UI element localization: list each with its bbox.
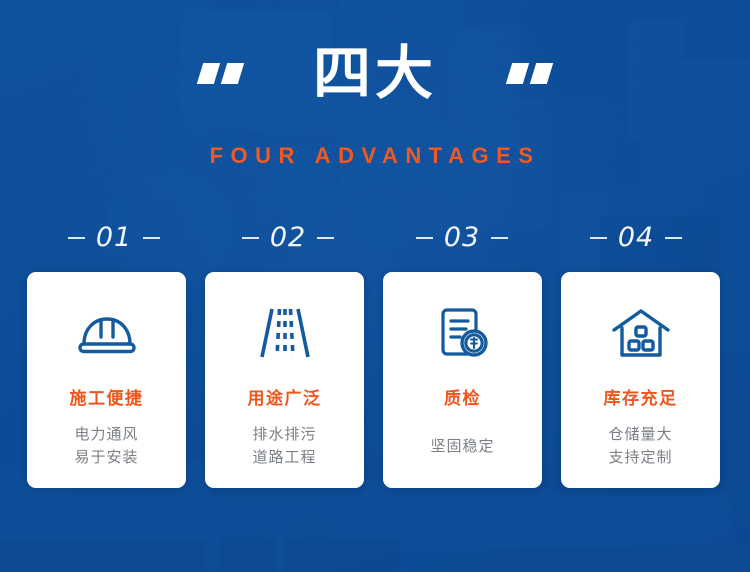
card-description: 仓储量大 支持定制 xyxy=(608,423,672,470)
advantage-card-2[interactable]: 用途广泛 排水排污 道路工程 xyxy=(205,272,364,488)
number-badge-03: 03 xyxy=(375,224,549,251)
number-label: 02 xyxy=(270,224,306,251)
card-description: 电力通风 易于安装 xyxy=(74,423,138,470)
quote-close-icon xyxy=(509,63,550,84)
card-description-line: 排水排污 xyxy=(252,423,316,446)
number-label: 03 xyxy=(444,224,480,251)
card-title: 施工便捷 xyxy=(70,384,144,409)
card-description-line: 坚固稳定 xyxy=(430,435,494,458)
page-subtitle: FOUR ADVANTAGES xyxy=(0,143,750,169)
card-description-line: 道路工程 xyxy=(252,446,316,469)
dash-left-icon xyxy=(242,237,259,239)
number-badge-02: 02 xyxy=(201,224,375,251)
card-description-line: 支持定制 xyxy=(608,446,672,469)
card-description-line: 易于安装 xyxy=(74,446,138,469)
advantage-card-4[interactable]: 库存充足 仓储量大 支持定制 xyxy=(561,272,720,488)
road-icon xyxy=(205,302,364,364)
number-badge-01: 01 xyxy=(27,224,201,251)
header: 四大 FOUR ADVANTAGES xyxy=(0,0,750,200)
advantage-cards: 施工便捷 电力通风 易于安装 用途广泛 排水排污 道路工程 xyxy=(27,272,723,488)
page-title: 四大 xyxy=(313,44,437,102)
card-description-line: 仓储量大 xyxy=(608,423,672,446)
dash-left-icon xyxy=(416,237,433,239)
hard-hat-icon xyxy=(27,302,186,364)
dash-right-icon xyxy=(317,237,334,239)
dash-left-icon xyxy=(590,237,607,239)
quote-open-icon xyxy=(200,63,241,84)
number-label: 04 xyxy=(618,224,654,251)
number-badge-04: 04 xyxy=(549,224,723,251)
card-description: 坚固稳定 xyxy=(430,435,494,458)
inspection-document-icon xyxy=(383,302,542,364)
warehouse-icon xyxy=(561,302,720,364)
number-label: 01 xyxy=(96,224,132,251)
card-title: 质检 xyxy=(444,384,481,409)
dash-left-icon xyxy=(68,237,85,239)
advantage-card-1[interactable]: 施工便捷 电力通风 易于安装 xyxy=(27,272,186,488)
card-description-line: 电力通风 xyxy=(74,423,138,446)
dash-right-icon xyxy=(491,237,508,239)
advantage-card-3[interactable]: 质检 坚固稳定 xyxy=(383,272,542,488)
card-title: 库存充足 xyxy=(604,384,678,409)
card-title: 用途广泛 xyxy=(248,384,322,409)
dash-right-icon xyxy=(665,237,682,239)
dash-right-icon xyxy=(143,237,160,239)
card-description: 排水排污 道路工程 xyxy=(252,423,316,470)
numbers-row: 01 02 03 04 xyxy=(27,224,723,251)
title-row: 四大 xyxy=(0,44,750,102)
